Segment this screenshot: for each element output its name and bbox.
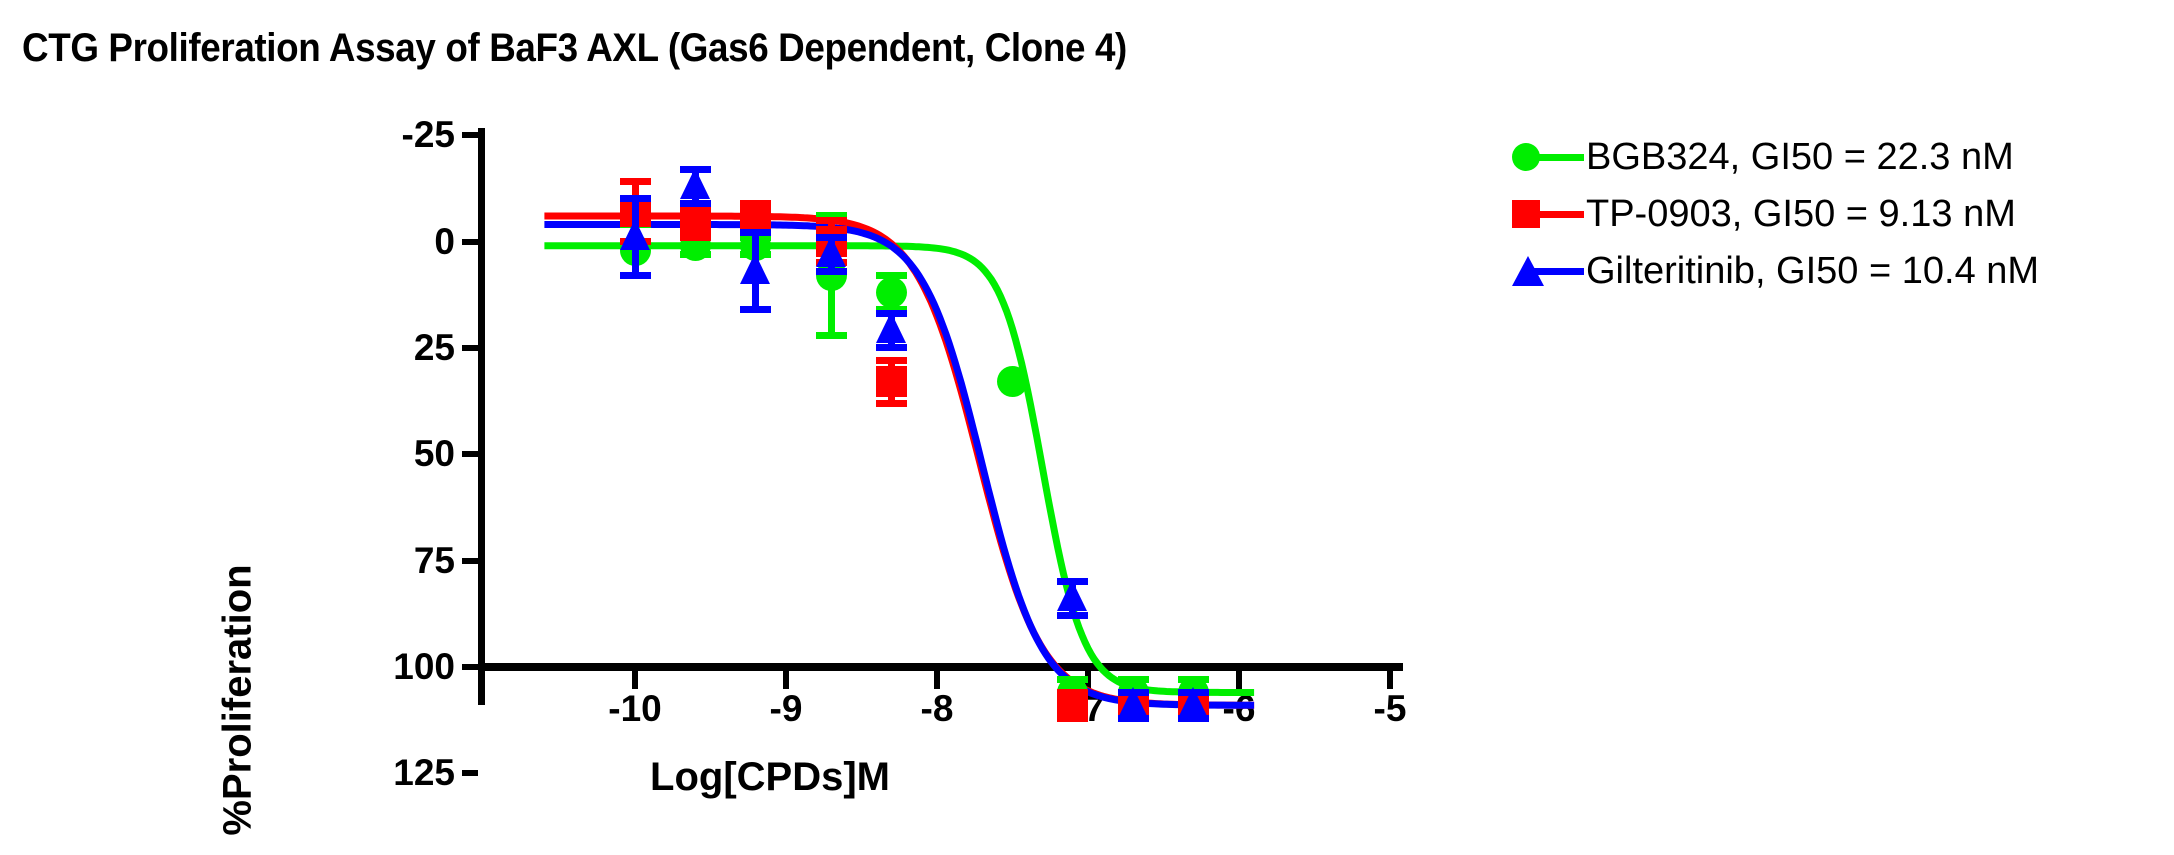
- legend-key: [1512, 194, 1586, 234]
- error-bar-cap: [680, 200, 711, 207]
- legend-label: TP-0903, GI50 = 9.13 nM: [1586, 195, 2016, 233]
- legend-label: BGB324, GI50 = 22.3 nM: [1586, 138, 2014, 176]
- legend-label: Gilteritinib, GI50 = 10.4 nM: [1586, 252, 2039, 290]
- error-bar-cap: [620, 178, 651, 185]
- data-point-triangle: [1178, 687, 1208, 718]
- data-point-triangle: [1118, 687, 1148, 718]
- error-bar-cap: [620, 272, 651, 279]
- legend-key: [1512, 251, 1586, 291]
- error-bar-cap: [876, 344, 907, 351]
- error-bar-cap: [816, 332, 847, 339]
- error-bar-cap: [740, 306, 771, 313]
- error-bar-cap: [816, 268, 847, 275]
- error-bar-cap: [620, 195, 651, 202]
- error-bar-cap: [1057, 612, 1088, 619]
- data-point-triangle: [680, 168, 710, 199]
- data-point-square: [740, 200, 771, 231]
- legend-marker-circle-icon: [1512, 143, 1540, 171]
- data-point-circle: [876, 277, 907, 308]
- legend-item-gilteritinib[interactable]: Gilteritinib, GI50 = 10.4 nM: [1512, 242, 2039, 299]
- data-point-triangle: [620, 219, 650, 250]
- data-point-triangle: [816, 236, 846, 267]
- legend-key: [1512, 137, 1586, 177]
- data-point-square: [1057, 690, 1088, 721]
- chart-legend: BGB324, GI50 = 22.3 nMTP-0903, GI50 = 9.…: [1512, 128, 2039, 299]
- legend-marker-triangle-icon: [1512, 256, 1544, 286]
- data-point-triangle: [740, 253, 770, 284]
- chart-root: CTG Proliferation Assay of BaF3 AXL (Gas…: [0, 0, 2174, 855]
- data-point-triangle: [876, 312, 906, 343]
- data-point-circle: [997, 366, 1028, 397]
- error-bar-cap: [740, 229, 771, 236]
- error-bar-cap: [816, 217, 847, 224]
- error-bar-cap: [876, 400, 907, 407]
- error-bar-cap: [876, 357, 907, 364]
- legend-marker-square-icon: [1512, 200, 1540, 228]
- legend-item-bgb324[interactable]: BGB324, GI50 = 22.3 nM: [1512, 128, 2039, 185]
- legend-item-tp-0903[interactable]: TP-0903, GI50 = 9.13 nM: [1512, 185, 2039, 242]
- data-point-triangle: [1057, 580, 1087, 611]
- data-point-square: [876, 366, 907, 397]
- data-point-square: [680, 205, 711, 236]
